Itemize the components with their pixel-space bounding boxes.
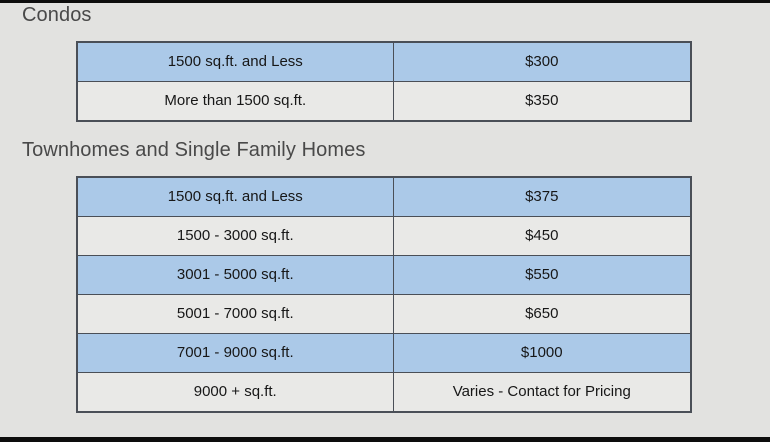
cell-size: 7001 - 9000 sq.ft. xyxy=(77,334,393,373)
table-row: 1500 sq.ft. and Less $300 xyxy=(77,42,691,82)
letterbox-band-bottom xyxy=(0,437,770,442)
pricing-table-condos: 1500 sq.ft. and Less $300 More than 1500… xyxy=(76,41,692,122)
table-row: 5001 - 7000 sq.ft. $650 xyxy=(77,295,691,334)
table-row: 7001 - 9000 sq.ft. $1000 xyxy=(77,334,691,373)
cell-price: $350 xyxy=(393,82,691,122)
cell-price: $450 xyxy=(393,217,691,256)
cell-size: More than 1500 sq.ft. xyxy=(77,82,393,122)
table-row: 1500 - 3000 sq.ft. $450 xyxy=(77,217,691,256)
pricing-table-townhomes-body: 1500 sq.ft. and Less $375 1500 - 3000 sq… xyxy=(77,177,691,412)
pricing-table-condos-body: 1500 sq.ft. and Less $300 More than 1500… xyxy=(77,42,691,121)
cell-price: Varies - Contact for Pricing xyxy=(393,373,691,413)
cell-price: $1000 xyxy=(393,334,691,373)
cell-price: $550 xyxy=(393,256,691,295)
cell-size: 1500 sq.ft. and Less xyxy=(77,177,393,217)
table-row: More than 1500 sq.ft. $350 xyxy=(77,82,691,122)
cell-size: 5001 - 7000 sq.ft. xyxy=(77,295,393,334)
cell-price: $300 xyxy=(393,42,691,82)
cell-size: 3001 - 5000 sq.ft. xyxy=(77,256,393,295)
cell-size: 1500 - 3000 sq.ft. xyxy=(77,217,393,256)
cell-price: $650 xyxy=(393,295,691,334)
table-row: 9000 + sq.ft. Varies - Contact for Prici… xyxy=(77,373,691,413)
pricing-slide: Condos 1500 sq.ft. and Less $300 More th… xyxy=(0,0,770,442)
section-heading-condos: Condos xyxy=(22,4,92,27)
letterbox-band-top xyxy=(0,0,770,3)
section-heading-townhomes: Townhomes and Single Family Homes xyxy=(22,139,365,162)
table-row: 3001 - 5000 sq.ft. $550 xyxy=(77,256,691,295)
cell-size: 9000 + sq.ft. xyxy=(77,373,393,413)
table-row: 1500 sq.ft. and Less $375 xyxy=(77,177,691,217)
cell-size: 1500 sq.ft. and Less xyxy=(77,42,393,82)
cell-price: $375 xyxy=(393,177,691,217)
pricing-table-townhomes: 1500 sq.ft. and Less $375 1500 - 3000 sq… xyxy=(76,176,692,413)
